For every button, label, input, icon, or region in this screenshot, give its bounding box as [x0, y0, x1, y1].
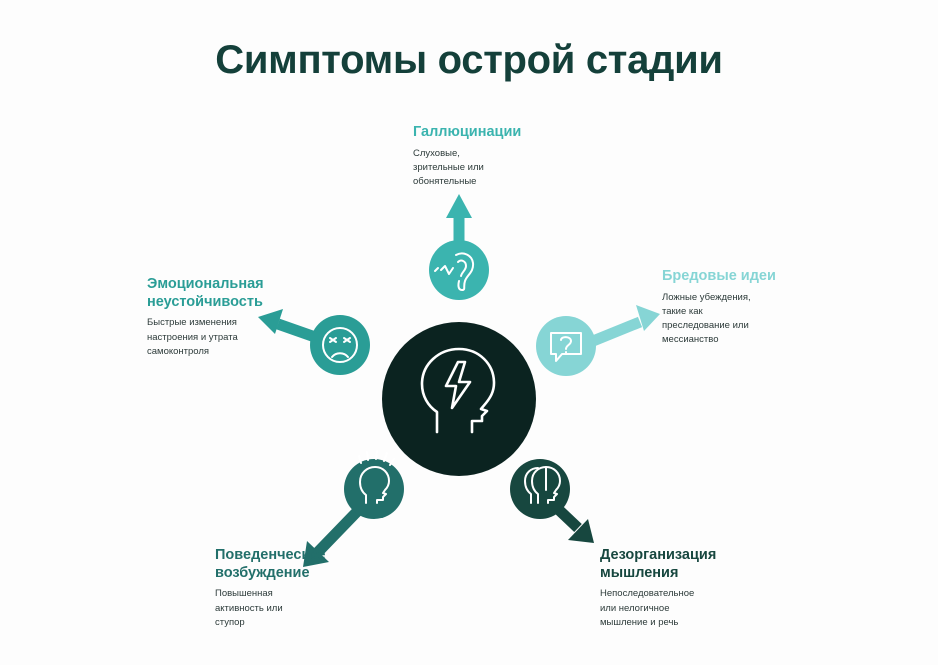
node-circle-hallucinations[interactable]: [429, 240, 489, 300]
node-heading-hallucinations: Галлюцинации: [413, 124, 603, 142]
node-circle-emotional[interactable]: [310, 315, 370, 375]
node-circle-behavior[interactable]: [344, 451, 404, 519]
node-text-disorganized: Дезорганизация мышления Непоследовательн…: [600, 547, 775, 630]
node-body-disorganized: Непоследовательное или нелогичное мышлен…: [600, 587, 775, 630]
node-text-emotional: Эмоциональная неустойчивость Быстрые изм…: [147, 276, 297, 359]
node-circle-disorganized[interactable]: [510, 459, 570, 519]
node-heading-emotional: Эмоциональная неустойчивость: [147, 276, 297, 311]
node-body-hallucinations: Слуховые, зрительные или обонятельные: [413, 147, 603, 190]
infographic-canvas: Симптомы острой стадии: [0, 0, 938, 665]
node-text-behavior: Поведенческое возбуждение Повышенная акт…: [215, 547, 385, 630]
node-text-delusions: Бредовые идеи Ложные убеждения, такие ка…: [662, 268, 832, 348]
node-heading-behavior: Поведенческое возбуждение: [215, 547, 385, 582]
node-body-delusions: Ложные убеждения, такие как преследовани…: [662, 291, 832, 348]
node-heading-delusions: Бредовые идеи: [662, 268, 832, 286]
node-text-hallucinations: Галлюцинации Слуховые, зрительные или об…: [413, 124, 603, 189]
node-body-behavior: Повышенная активность или ступор: [215, 587, 385, 630]
node-body-emotional: Быстрые изменения настроения и утрата са…: [147, 316, 297, 359]
node-circle-delusions[interactable]: [536, 316, 596, 376]
node-heading-disorganized: Дезорганизация мышления: [600, 547, 775, 582]
center-node[interactable]: [382, 322, 536, 476]
